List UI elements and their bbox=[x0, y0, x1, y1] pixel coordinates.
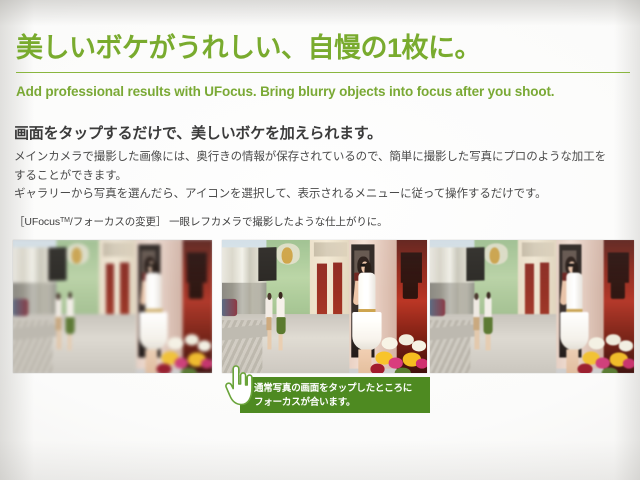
flower-red-1 bbox=[157, 363, 171, 373]
street-scene-illustration bbox=[13, 240, 212, 373]
flower-white-1 bbox=[381, 337, 397, 349]
figure-caption-bracket: ［UFocus bbox=[14, 216, 60, 228]
flower-white-1 bbox=[588, 337, 604, 349]
page-title: 美しいボケがうれしい、自慢の1枚に。 bbox=[16, 34, 630, 64]
red-shutter-right bbox=[333, 262, 342, 318]
storefront-logo bbox=[490, 247, 500, 263]
pedestrian-b-top bbox=[66, 297, 73, 318]
pedestrian-b-skirt bbox=[276, 317, 285, 334]
hanging-shop-sign bbox=[466, 247, 485, 281]
pedestrian-a-shorts bbox=[266, 317, 272, 330]
section-lead-text: 画面をタップするだけで、美しいボケを加えられます。 bbox=[14, 122, 630, 143]
figure-caption: ［UFocusTM/フォーカスの変更］ 一眼レフカメラで撮影したような仕上がりに… bbox=[14, 214, 634, 229]
pedestrian-a-shorts bbox=[56, 317, 62, 330]
red-building-detail bbox=[403, 280, 417, 299]
red-building-detail bbox=[189, 280, 203, 299]
flower-foliage bbox=[395, 367, 411, 373]
pedestrian-a-top bbox=[55, 297, 61, 318]
flower-white-1 bbox=[168, 337, 184, 349]
flower-white-3 bbox=[198, 341, 211, 351]
flower-foliage bbox=[602, 367, 618, 373]
callout-line-1: 通常写真の画面をタップしたところに bbox=[254, 382, 426, 396]
brochure-page: 美しいボケがうれしい、自慢の1枚に。 Add professional resu… bbox=[0, 0, 640, 480]
street-scene-illustration bbox=[430, 240, 634, 373]
focus-callout-banner: 通常写真の画面をタップしたところに フォーカスが合います。 bbox=[240, 377, 430, 413]
pedestrian-b-skirt bbox=[65, 317, 74, 334]
pedestrian-b-head bbox=[486, 292, 490, 299]
pedestrian-a-head bbox=[267, 293, 271, 300]
flower-white-3 bbox=[619, 341, 633, 351]
flower-red-1 bbox=[577, 363, 592, 373]
page-subtitle: Add professional results with UFocus. Br… bbox=[16, 84, 634, 99]
pedestrian-a-top bbox=[265, 297, 272, 318]
hanging-shop-sign bbox=[48, 247, 66, 281]
sample-photo-1 bbox=[13, 240, 212, 373]
body-line-3: ギャラリーから写真を選んだら、アイコンを選択して、表示されるメニューに従って操作… bbox=[14, 185, 634, 204]
street-scene-illustration bbox=[222, 240, 427, 373]
callout-line-2: フォーカスが合います。 bbox=[254, 396, 426, 410]
red-building-detail bbox=[610, 280, 624, 299]
pedestrian-a-shorts bbox=[474, 317, 480, 330]
parked-car bbox=[13, 298, 28, 315]
paper-shading-bottom bbox=[0, 440, 640, 480]
pedestrian-b-skirt bbox=[484, 317, 493, 334]
red-building-panel bbox=[608, 253, 629, 283]
woman-top bbox=[146, 273, 162, 313]
red-shutter-left bbox=[105, 264, 114, 320]
flower-pink-2 bbox=[201, 359, 212, 368]
flower-foliage bbox=[181, 367, 197, 373]
parked-car bbox=[430, 298, 445, 315]
pedestrian-a-top bbox=[473, 297, 480, 318]
pedestrian-b-legs bbox=[67, 335, 71, 351]
hanging-shop-sign bbox=[258, 247, 277, 281]
pedestrian-b-top bbox=[485, 297, 492, 318]
flower-pink-2 bbox=[416, 359, 427, 368]
flower-red-1 bbox=[370, 363, 385, 373]
sample-photo-3 bbox=[430, 240, 634, 373]
flower-white-3 bbox=[412, 341, 426, 351]
flower-display bbox=[370, 335, 427, 373]
flower-display bbox=[577, 335, 634, 373]
pedestrian-b-legs bbox=[278, 335, 283, 351]
red-shutter-right bbox=[540, 262, 549, 318]
pointing-hand-icon bbox=[222, 362, 256, 410]
woman-top bbox=[566, 273, 582, 313]
wall-lettering bbox=[314, 242, 347, 257]
wall-lettering bbox=[102, 242, 134, 257]
flower-display bbox=[157, 335, 212, 373]
sample-photo-2 bbox=[222, 240, 427, 373]
body-paragraphs: メインカメラで撮影した画像には、奥行きの情報が保存されているので、簡単に撮影した… bbox=[14, 148, 634, 204]
storefront-logo bbox=[71, 247, 81, 263]
red-building-panel bbox=[401, 253, 422, 283]
pedestrian-a-legs bbox=[57, 331, 61, 350]
flower-white-2 bbox=[606, 335, 621, 346]
flower-pink-2 bbox=[623, 359, 634, 368]
woman-top bbox=[359, 273, 376, 313]
focus-callout-text: 通常写真の画面をタップしたところに フォーカスが合います。 bbox=[254, 382, 426, 410]
flower-white-2 bbox=[399, 335, 414, 346]
title-underline-rule bbox=[16, 72, 630, 73]
pedestrian-a-legs bbox=[267, 331, 272, 350]
body-line-2: することができます。 bbox=[14, 167, 634, 186]
paper-shading-top bbox=[0, 0, 640, 26]
red-shutter-right bbox=[121, 262, 130, 318]
parked-car bbox=[222, 298, 238, 315]
red-shutter-left bbox=[317, 264, 326, 320]
pedestrian-b-top bbox=[277, 297, 284, 318]
storefront-logo bbox=[282, 247, 292, 263]
red-building-panel bbox=[187, 253, 207, 283]
flower-white-2 bbox=[184, 335, 198, 346]
trademark-mark: TM bbox=[60, 217, 70, 224]
wall-lettering bbox=[522, 242, 555, 257]
pedestrian-a-legs bbox=[475, 331, 480, 350]
body-line-1: メインカメラで撮影した画像には、奥行きの情報が保存されているので、簡単に撮影した… bbox=[14, 148, 634, 167]
figure-caption-rest: /フォーカスの変更］ 一眼レフカメラで撮影したような仕上がりに。 bbox=[70, 216, 388, 228]
pedestrian-b-legs bbox=[486, 335, 491, 351]
red-shutter-left bbox=[525, 264, 534, 320]
